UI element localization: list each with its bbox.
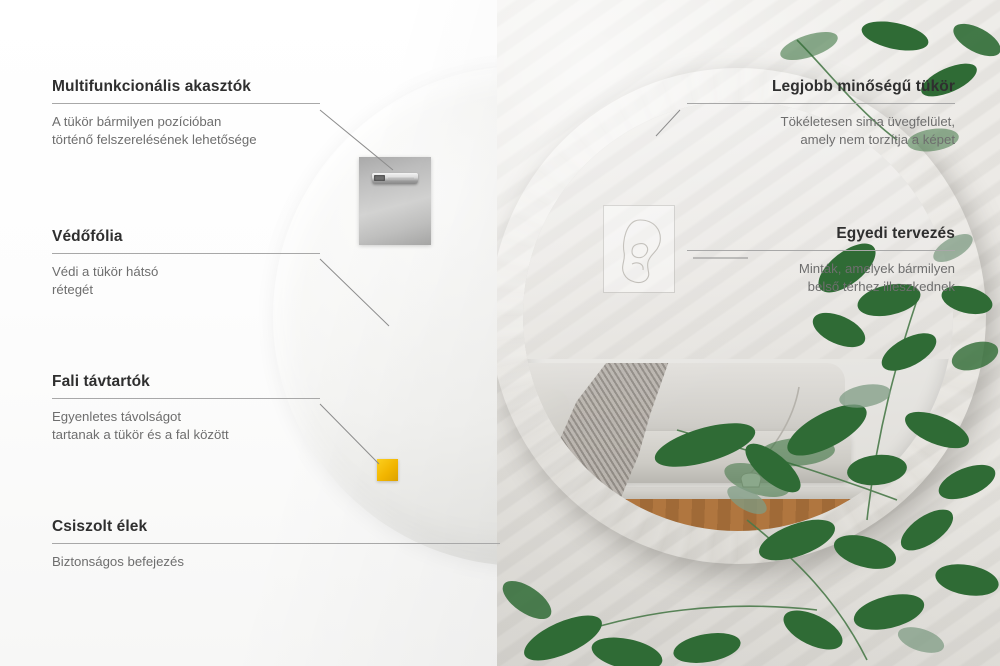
callout-title: Multifunkcionális akasztók [52, 78, 320, 96]
callout-description: Védi a tükör hátsó rétegét [52, 263, 320, 298]
infographic-canvas: Multifunkcionális akasztók A tükör bármi… [0, 0, 1000, 666]
callout-title: Védőfólia [52, 228, 320, 246]
callout-egyedi-tervezes: Egyedi tervezés Minták, amelyek bármilye… [687, 225, 955, 295]
callout-title: Fali távtartók [52, 373, 320, 391]
line-art-icon [610, 214, 670, 286]
callout-legjobb-minosegu-tukor: Legjobb minőségű tükör Tökéletesen sima … [687, 78, 955, 148]
callout-csiszolt-elek: Csiszolt élek Biztonságos befejezés [52, 518, 500, 571]
reflected-throw-fringe [545, 487, 603, 513]
reflected-arc-lamp [719, 383, 809, 509]
callout-title: Egyedi tervezés [687, 225, 955, 243]
hanger-bracket-icon [372, 173, 418, 184]
callout-rule [687, 103, 955, 104]
callout-description: Biztonságos befejezés [52, 553, 500, 571]
callout-rule [52, 253, 320, 254]
callout-description: A tükör bármilyen pozícióban történő fel… [52, 113, 320, 148]
callout-description: Egyenletes távolságot tartanak a tükör é… [52, 408, 320, 443]
spacer-chip [377, 459, 398, 481]
callout-multifunkcionalis-akasztok: Multifunkcionális akasztók A tükör bármi… [52, 78, 320, 148]
reflected-line-art-frame [603, 205, 675, 293]
callout-rule [52, 398, 320, 399]
hanger-plate [359, 157, 431, 245]
callout-vedofolia: Védőfólia Védi a tükör hátsó rétegét [52, 228, 320, 298]
callout-description: Minták, amelyek bármilyen belső térhez i… [687, 260, 955, 295]
callout-fali-tavtartok: Fali távtartók Egyenletes távolságot tar… [52, 373, 320, 443]
callout-rule [52, 103, 320, 104]
callout-description: Tökéletesen sima üvegfelület, amely nem … [687, 113, 955, 148]
callout-rule [687, 250, 955, 251]
mirror-glass [523, 101, 953, 531]
callout-rule [52, 543, 500, 544]
callout-title: Legjobb minőségű tükör [687, 78, 955, 96]
callout-title: Csiszolt élek [52, 518, 500, 536]
